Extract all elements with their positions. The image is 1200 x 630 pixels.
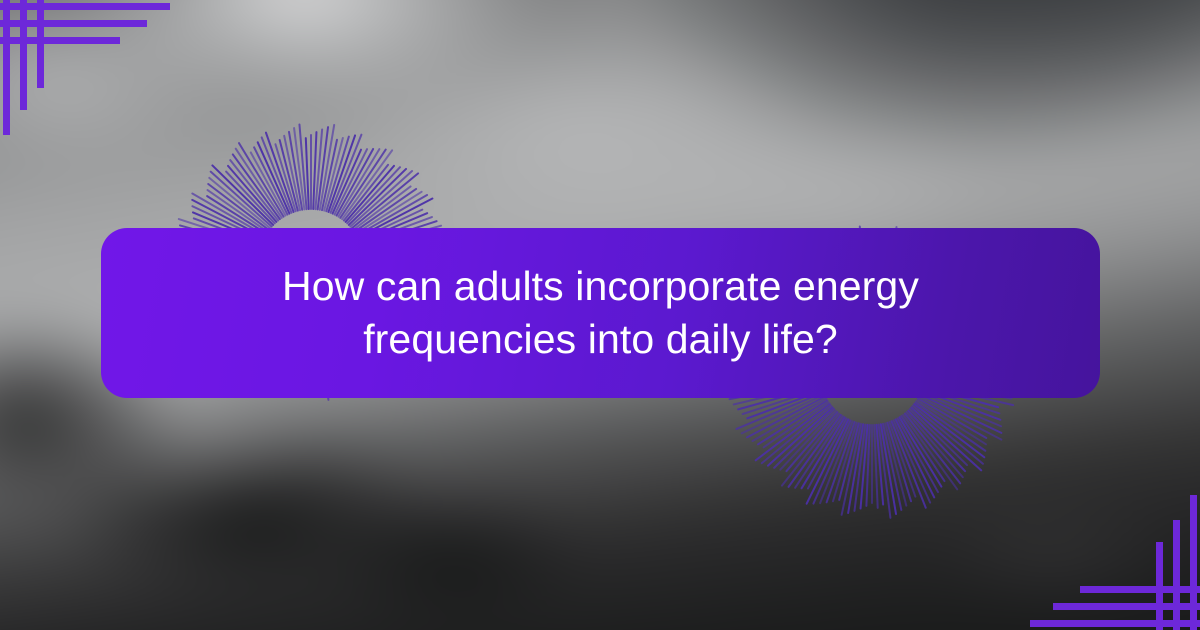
- question-card: How can adults incorporate energy freque…: [101, 228, 1100, 398]
- corner-rule-bottom-right-h3: [1080, 586, 1200, 593]
- corner-rule-bottom-right-v1: [1190, 495, 1197, 630]
- corner-rule-top-left-v1: [3, 0, 10, 135]
- social-card-canvas: How can adults incorporate energy freque…: [0, 0, 1200, 630]
- corner-rule-top-left-h3: [0, 37, 120, 44]
- corner-rule-bottom-right-v2: [1173, 520, 1180, 630]
- corner-rule-bottom-right-v3: [1156, 542, 1163, 630]
- question-text: How can adults incorporate energy freque…: [282, 260, 919, 367]
- corner-rule-top-left-v3: [37, 0, 44, 88]
- corner-rule-top-left-v2: [20, 0, 27, 110]
